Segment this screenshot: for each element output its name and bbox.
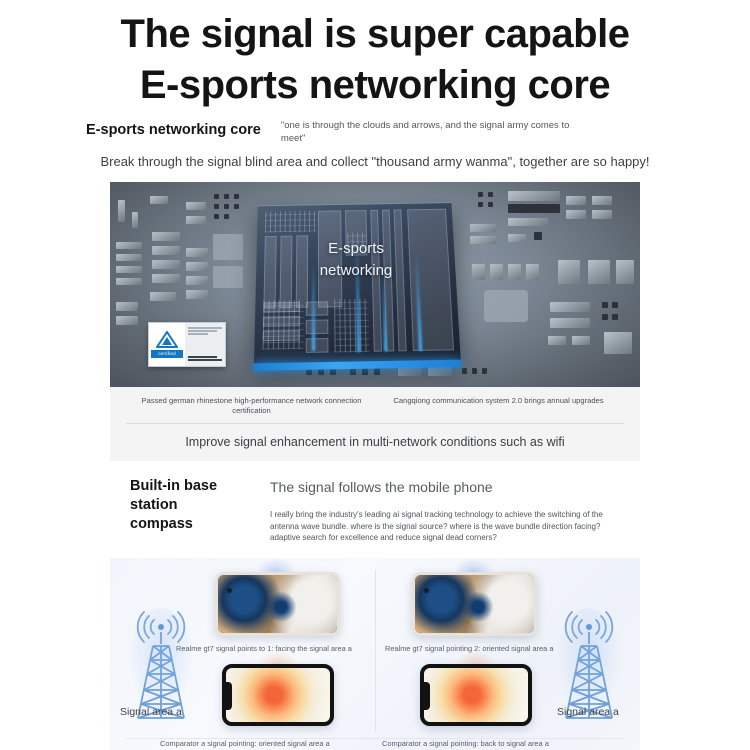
- comparison-bottom-divider: [126, 738, 624, 739]
- section2-text-block: The signal follows the mobile phone I re…: [270, 477, 615, 544]
- comparison-divider: [375, 570, 376, 732]
- chip-image: E-sports networking certified: [110, 182, 640, 387]
- chip-die: [254, 202, 461, 363]
- section2-lead-line-1: Built-in base: [130, 477, 240, 496]
- notch-icon: [423, 682, 430, 710]
- section2-header-row: Built-in base station compass The signal…: [0, 477, 750, 544]
- phone-screen: [226, 668, 330, 722]
- phone-comparator-bottom-right: [420, 664, 532, 726]
- headline-line-2: E-sports networking core: [0, 59, 750, 111]
- signal-area-label-right: Signal area a: [557, 706, 619, 718]
- chip-label-line-1: E-sports: [256, 238, 456, 260]
- section1-quote: "one is through the clouds and arrows, a…: [281, 119, 581, 145]
- camera-icon: [227, 588, 232, 593]
- badge-logo: certified: [149, 323, 185, 366]
- triangle-certification-icon: [156, 331, 178, 348]
- section2-lead-line-2: station compass: [130, 496, 240, 534]
- chip-die-label: E-sports networking: [256, 238, 456, 282]
- phone-realme-top-right: [412, 572, 537, 636]
- caption-bottom-right: Comparator a signal pointing: back to si…: [382, 739, 549, 748]
- page-headline: The signal is super capable E-sports net…: [0, 0, 750, 111]
- section2-lead-title: Built-in base station compass: [130, 477, 240, 534]
- chip-caption-left: Passed german rhinestone high-performanc…: [128, 396, 375, 416]
- section2-body: I really bring the industry's leading ai…: [270, 509, 615, 544]
- certification-badge: certified: [148, 322, 226, 367]
- promo-page: The signal is super capable E-sports net…: [0, 0, 750, 750]
- chip-captions: Passed german rhinestone high-performanc…: [110, 387, 640, 423]
- chip-bottom-text: Improve signal enhancement in multi-netw…: [110, 424, 640, 461]
- phone-realme-top-left: [215, 572, 340, 636]
- headline-line-1: The signal is super capable: [0, 0, 750, 59]
- notch-icon: [225, 682, 232, 710]
- badge-certified-label: certified: [151, 350, 183, 358]
- chip-caption-right: Cangqiong communication system 2.0 bring…: [375, 396, 622, 416]
- caption-bottom-left: Comparator a signal pointing: oriented s…: [160, 739, 330, 748]
- chip-label-line-2: networking: [256, 260, 456, 282]
- signal-area-label-left: Signal area a: [120, 706, 182, 718]
- phone-screen: [218, 575, 337, 633]
- camera-icon: [424, 588, 429, 593]
- section1-lead-title: E-sports networking core: [86, 119, 261, 138]
- section1-tagline: Break through the signal blind area and …: [0, 154, 750, 169]
- caption-top-left: Realme gt7 signal points to 1: facing th…: [176, 644, 352, 653]
- phone-screen: [415, 575, 534, 633]
- chip-card: E-sports networking certified: [110, 182, 640, 461]
- badge-text-lines: [185, 323, 225, 366]
- comparison-panel: Signal area a: [110, 558, 640, 750]
- phone-comparator-bottom-left: [222, 664, 334, 726]
- section1-header-row: E-sports networking core "one is through…: [86, 111, 750, 145]
- section2-subtitle: The signal follows the mobile phone: [270, 479, 615, 495]
- phone-screen: [424, 668, 528, 722]
